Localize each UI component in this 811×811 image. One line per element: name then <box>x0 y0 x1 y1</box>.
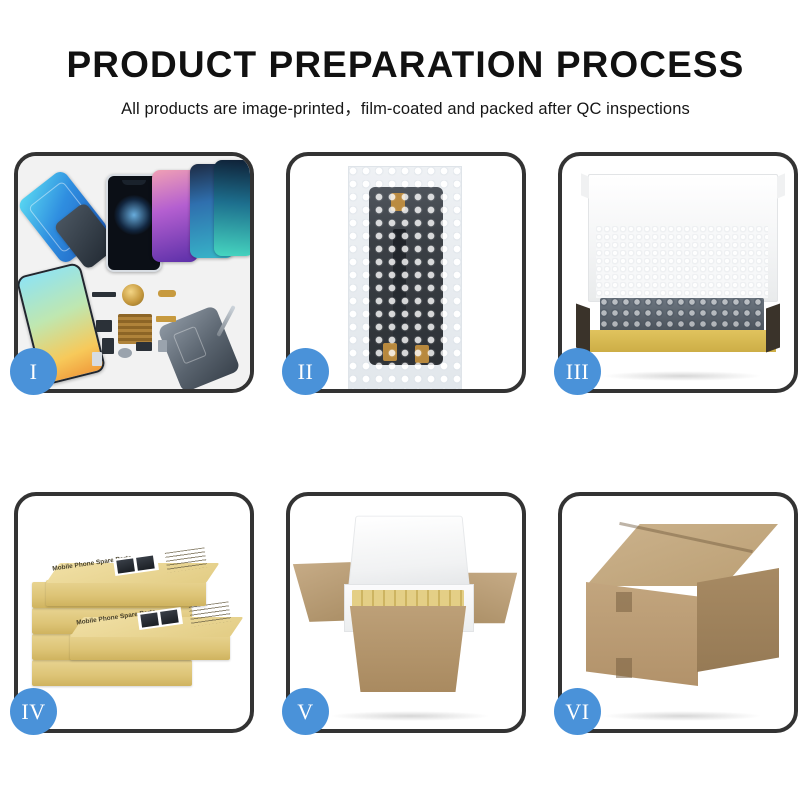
step-5-image <box>290 496 522 729</box>
sim-tray-icon <box>92 352 102 366</box>
battery-icon <box>158 340 167 352</box>
step-6-image <box>562 496 794 729</box>
green-phone-icon <box>214 160 250 256</box>
carton-body <box>342 606 474 692</box>
drop-shadow <box>602 371 762 381</box>
stacked-boxes-illustration: Mobile Phone Spare Parts Mobile Phone Sp… <box>18 496 250 729</box>
step-badge-3: III <box>554 348 601 395</box>
page-subtitle: All products are image-printed，film-coat… <box>0 95 811 119</box>
stacked-box-front <box>70 634 230 660</box>
drop-shadow <box>330 711 490 721</box>
open-box-illustration <box>562 156 794 389</box>
box-stack: Mobile Phone Spare Parts Mobile Phone Sp… <box>26 518 250 718</box>
header: PRODUCT PREPARATION PROCESS All products… <box>0 44 811 119</box>
step-badge-4: IV <box>10 688 57 735</box>
bubble-wrapped-contents <box>600 298 764 332</box>
process-step-grid: I II <box>14 152 797 733</box>
speaker-coil-icon <box>122 284 144 306</box>
ribbon-cable-icon <box>156 316 176 322</box>
foam-lid <box>348 516 470 589</box>
process-step-1: I <box>14 152 254 393</box>
ic-chip-icon <box>136 342 152 351</box>
product-preparation-infographic: PRODUCT PREPARATION PROCESS All products… <box>0 0 811 811</box>
component-chip-icon <box>92 292 116 297</box>
process-step-5: V <box>286 492 526 733</box>
circuit-board-icon <box>118 314 152 344</box>
step-1-image <box>18 156 250 389</box>
step-badge-6: VI <box>554 688 601 735</box>
flex-cable-icon <box>158 290 176 297</box>
process-step-4: Mobile Phone Spare Parts Mobile Phone Sp… <box>14 492 254 733</box>
carton-front-face <box>586 582 698 686</box>
stacked-box-upper <box>46 580 206 606</box>
vibrator-icon <box>118 348 132 358</box>
carton-tape-upper <box>616 592 632 612</box>
bubble-texture-overlay <box>349 167 461 389</box>
process-step-2: II <box>286 152 526 393</box>
carton-tape-lower <box>616 658 632 678</box>
box-flap-right <box>766 303 780 352</box>
sealed-carton-illustration <box>562 496 794 729</box>
step-badge-5: V <box>282 688 329 735</box>
page-title: PRODUCT PREPARATION PROCESS <box>0 44 811 86</box>
step-2-image <box>290 156 522 389</box>
bubble-wrap-illustration <box>290 156 522 389</box>
carton-side-face <box>697 568 779 672</box>
process-step-6: VI <box>558 492 798 733</box>
box-flap-left <box>576 303 590 352</box>
step-badge-2: II <box>282 348 329 395</box>
process-step-3: III <box>558 152 798 393</box>
stacked-box <box>32 660 192 686</box>
connector-icon <box>102 338 114 354</box>
step-4-image: Mobile Phone Spare Parts Mobile Phone Sp… <box>18 496 250 729</box>
foam-sheet <box>596 226 768 298</box>
camera-module-icon <box>96 320 112 332</box>
step-3-image <box>562 156 794 389</box>
carton-packing-illustration <box>290 496 522 729</box>
step-badge-1: I <box>10 348 57 395</box>
phone-parts-illustration <box>18 156 250 389</box>
bubble-wrap-bag <box>348 166 462 389</box>
drop-shadow <box>602 711 762 721</box>
gold-box-front <box>588 330 776 352</box>
